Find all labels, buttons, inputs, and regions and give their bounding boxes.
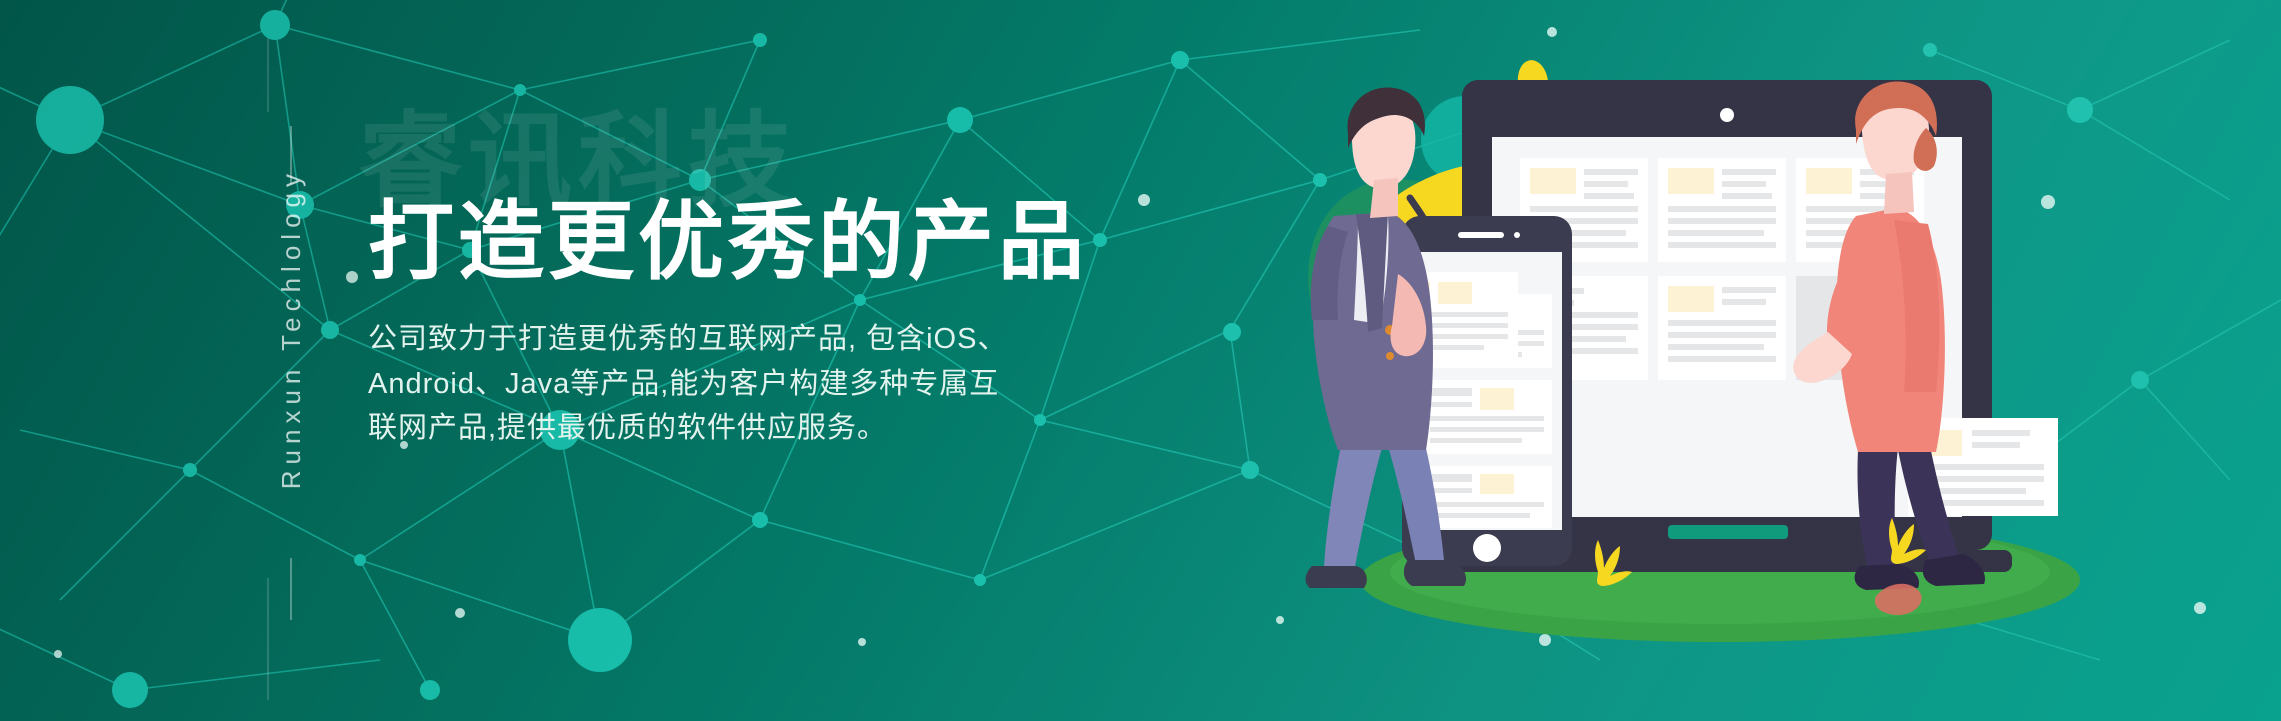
laptop-card xyxy=(1658,158,1786,262)
copy-block: 睿讯科技 打造更优秀的产品 公司致力于打造更优秀的互联网产品, 包含iOS、 A… xyxy=(368,120,1188,450)
phone-home-button xyxy=(1473,534,1501,562)
body-line-1: 公司致力于打造更优秀的互联网产品, 包含iOS、 xyxy=(368,317,1158,361)
vertical-brand: Runxun Techlology xyxy=(276,168,307,568)
laptop-camera-dot xyxy=(1720,108,1734,122)
laptop-card xyxy=(1658,276,1786,380)
team-devices-illustration xyxy=(1290,20,2130,680)
body-line-2: Android、Java等产品,能为客户构建多种专属互 xyxy=(368,362,1158,406)
body-line-3: 联网产品,提供最优质的软件供应服务。 xyxy=(368,406,1158,450)
hero-banner: Runxun Techlology 睿讯科技 打造更优秀的产品 公司致力于打造更… xyxy=(0,0,2281,721)
vertical-brand-text: Runxun Techlology xyxy=(276,168,307,489)
brand-rule-bottom xyxy=(290,558,292,620)
body-copy: 公司致力于打造更优秀的互联网产品, 包含iOS、 Android、Java等产品… xyxy=(368,317,1158,449)
page-title: 打造更优秀的产品 xyxy=(368,120,1188,287)
phone-card xyxy=(1422,466,1552,528)
phone-card xyxy=(1422,380,1552,454)
